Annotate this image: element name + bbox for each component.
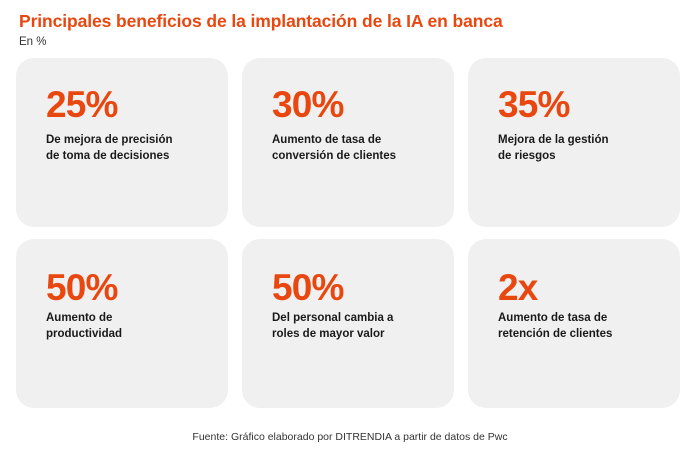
- stat-card-precision: 25% De mejora de precisión de toma de de…: [16, 58, 228, 227]
- stat-label: Aumento de tasa de conversión de cliente…: [272, 132, 432, 165]
- infographic-root: Principales beneficios de la implantació…: [0, 0, 700, 455]
- stat-label: De mejora de precisión de toma de decisi…: [46, 132, 206, 165]
- stat-card-productivity: 50% Aumento de productividad: [16, 239, 228, 408]
- stat-card-staff-roles: 50% Del personal cambia a roles de mayor…: [242, 239, 454, 408]
- chart-subtitle: En %: [19, 36, 700, 50]
- stat-value: 50%: [46, 269, 206, 306]
- stat-label: Del personal cambia a roles de mayor val…: [272, 310, 432, 343]
- stat-value: 25%: [46, 86, 206, 123]
- stat-value: 50%: [272, 269, 432, 306]
- stat-card-conversion: 30% Aumento de tasa de conversión de cli…: [242, 58, 454, 227]
- stat-value: 2x: [498, 269, 658, 306]
- stat-label: Aumento de productividad: [46, 310, 206, 343]
- stat-value: 30%: [272, 86, 432, 123]
- stat-value: 35%: [498, 86, 658, 123]
- stat-card-grid: 25% De mejora de precisión de toma de de…: [16, 58, 680, 408]
- source-note: Fuente: Gráfico elaborado por DITRENDIA …: [0, 431, 700, 444]
- chart-header: Principales beneficios de la implantació…: [0, 0, 700, 50]
- page-title: Principales beneficios de la implantació…: [19, 11, 700, 31]
- stat-label: Aumento de tasa de retención de clientes: [498, 310, 658, 343]
- stat-label: Mejora de la gestión de riesgos: [498, 132, 658, 165]
- stat-card-retention: 2x Aumento de tasa de retención de clien…: [468, 239, 680, 408]
- stat-card-risk-management: 35% Mejora de la gestión de riesgos: [468, 58, 680, 227]
